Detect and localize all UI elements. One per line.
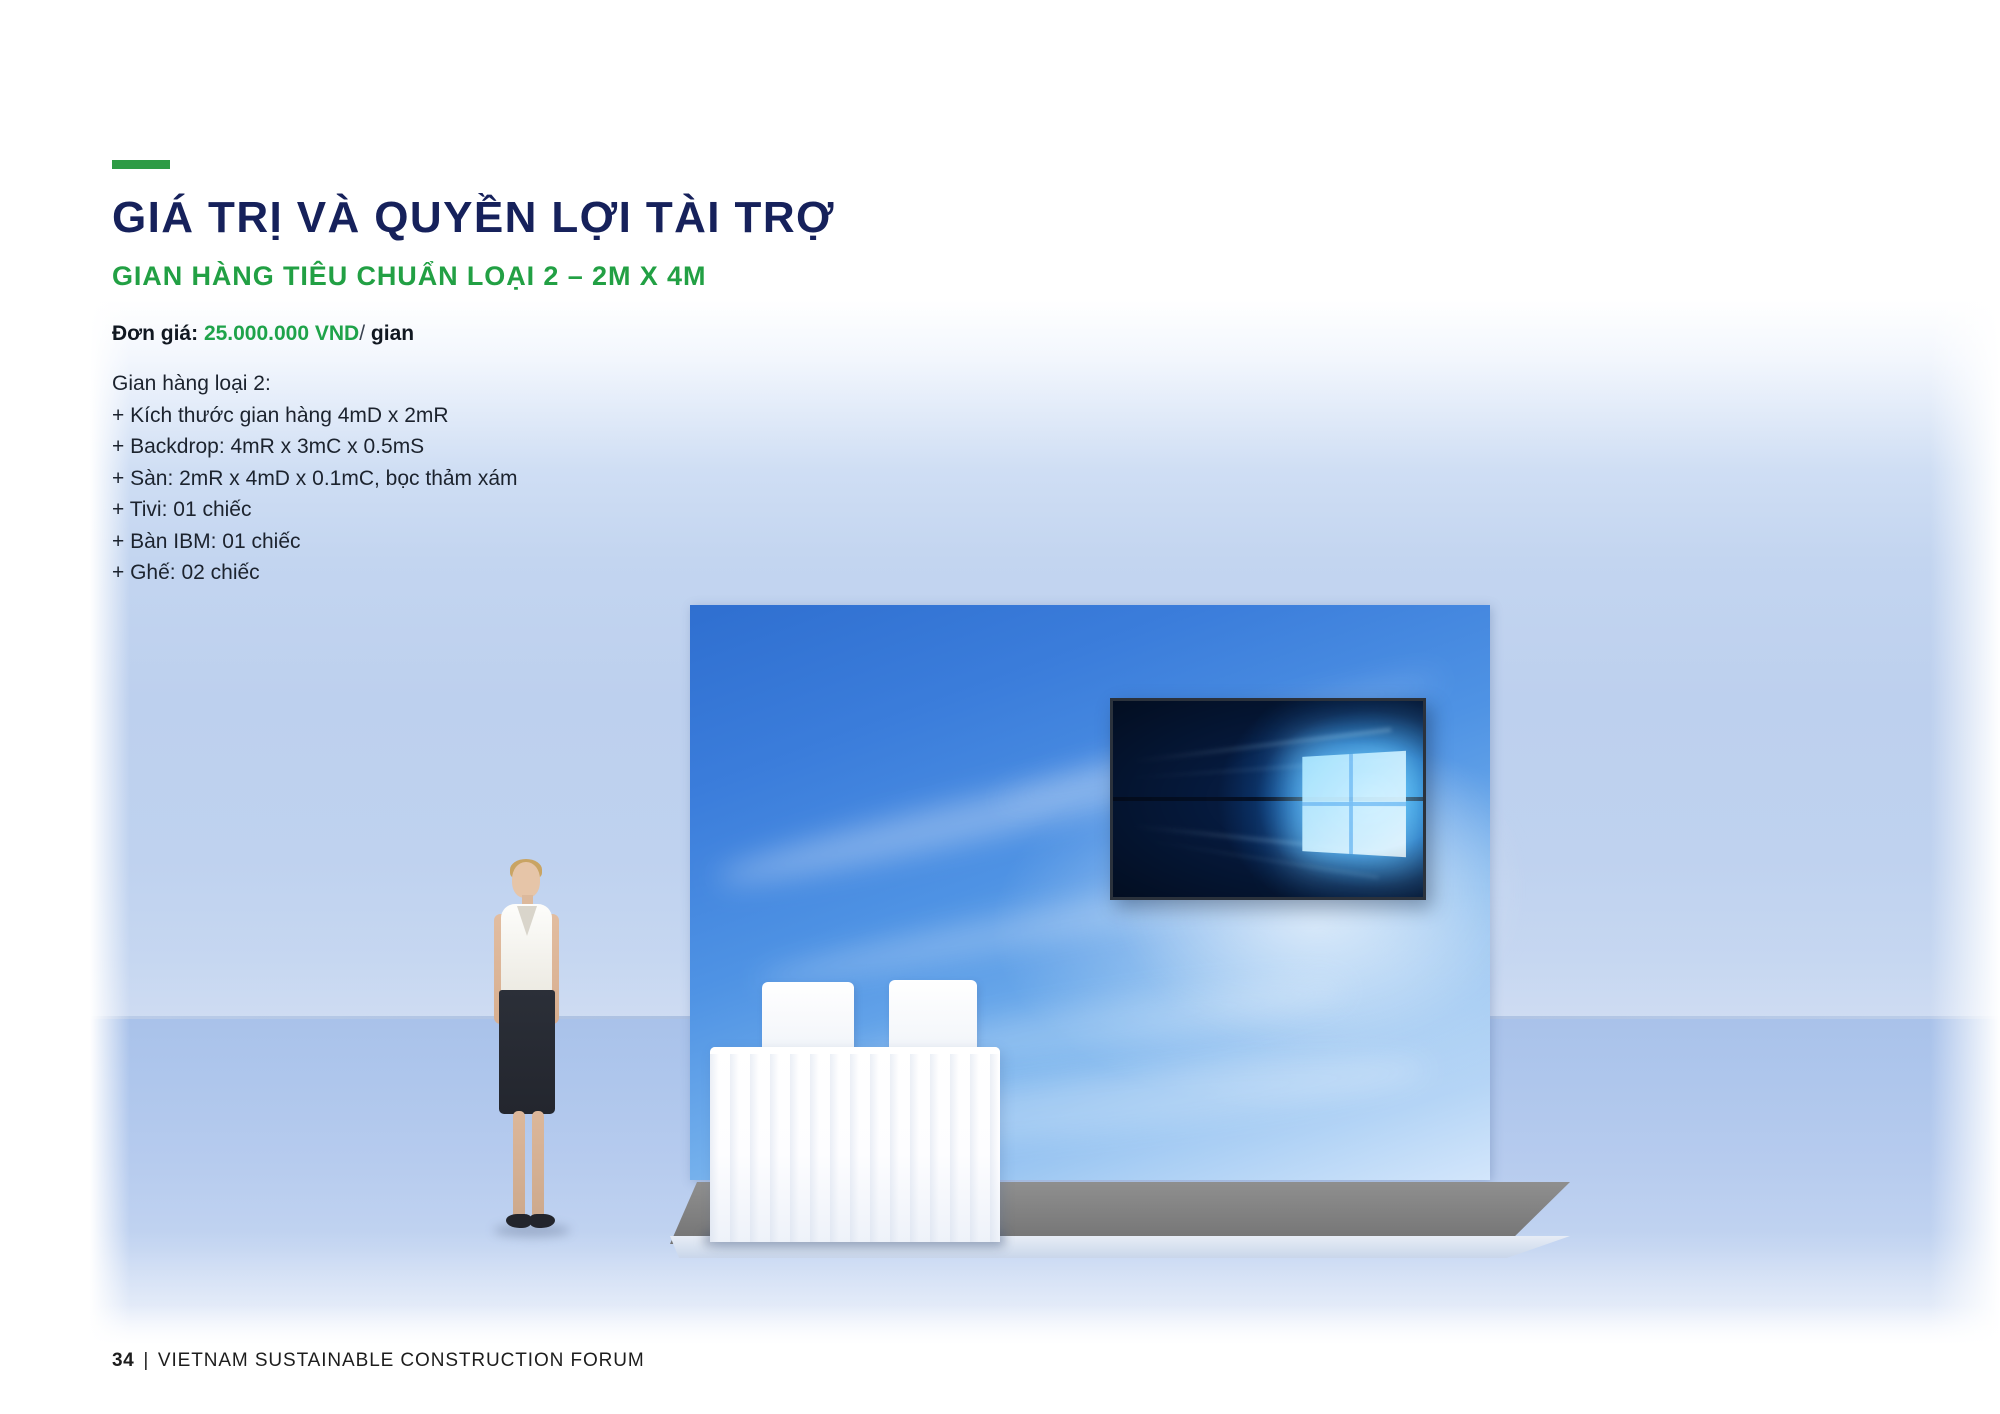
table-top-edge — [710, 1047, 1000, 1054]
price-value: 25.000.000 VND — [204, 322, 359, 345]
presenter-leg-right — [532, 1111, 544, 1219]
wall-mounted-tv — [1110, 698, 1426, 900]
spec-item: + Ghế: 02 chiếc — [112, 557, 992, 589]
page-subtitle: GIAN HÀNG TIÊU CHUẨN LOẠI 2 – 2M X 4M — [112, 261, 992, 292]
presenter-shoe-left — [506, 1214, 531, 1228]
spec-item: + Tivi: 01 chiếc — [112, 494, 992, 526]
accent-dash — [112, 160, 170, 169]
price-separator: / — [359, 322, 365, 345]
render-right-fade — [1930, 0, 2000, 1345]
price-line: Đơn giá: 25.000.000 VND/ gian — [112, 322, 992, 346]
presenter-head — [512, 862, 540, 898]
page-title: GIÁ TRỊ VÀ QUYỀN LỢI TÀI TRỢ — [112, 195, 992, 241]
tv-vignette — [1113, 701, 1423, 897]
footer-separator: | — [143, 1350, 149, 1372]
footer-page-number: 34 — [112, 1350, 134, 1372]
price-label: Đơn giá: — [112, 322, 198, 345]
spec-item: + Bàn IBM: 01 chiếc — [112, 526, 992, 558]
slide-content: GIÁ TRỊ VÀ QUYỀN LỢI TÀI TRỢ GIAN HÀNG T… — [112, 160, 992, 589]
price-unit: gian — [371, 322, 414, 345]
spec-list: Gian hàng loại 2: + Kích thước gian hàng… — [112, 368, 992, 589]
white-draped-table — [710, 1047, 1000, 1242]
spec-intro: Gian hàng loại 2: — [112, 368, 992, 400]
footer-title: VIETNAM SUSTAINABLE CONSTRUCTION FORUM — [158, 1350, 645, 1372]
tv-screen — [1113, 701, 1423, 897]
render-bottom-fade — [90, 1305, 2000, 1345]
slide-page: GIÁ TRỊ VÀ QUYỀN LỢI TÀI TRỢ GIAN HÀNG T… — [0, 0, 2000, 1414]
presenter-figure — [470, 862, 580, 1250]
spec-item: + Sàn: 2mR x 4mD x 0.1mC, bọc thảm xám — [112, 463, 992, 495]
spec-item: + Kích thước gian hàng 4mD x 2mR — [112, 400, 992, 432]
footer: 34 | VIETNAM SUSTAINABLE CONSTRUCTION FO… — [112, 1350, 645, 1372]
presenter-skirt — [499, 990, 555, 1114]
spec-item: + Backdrop: 4mR x 3mC x 0.5mS — [112, 431, 992, 463]
presenter-leg-left — [513, 1111, 525, 1219]
